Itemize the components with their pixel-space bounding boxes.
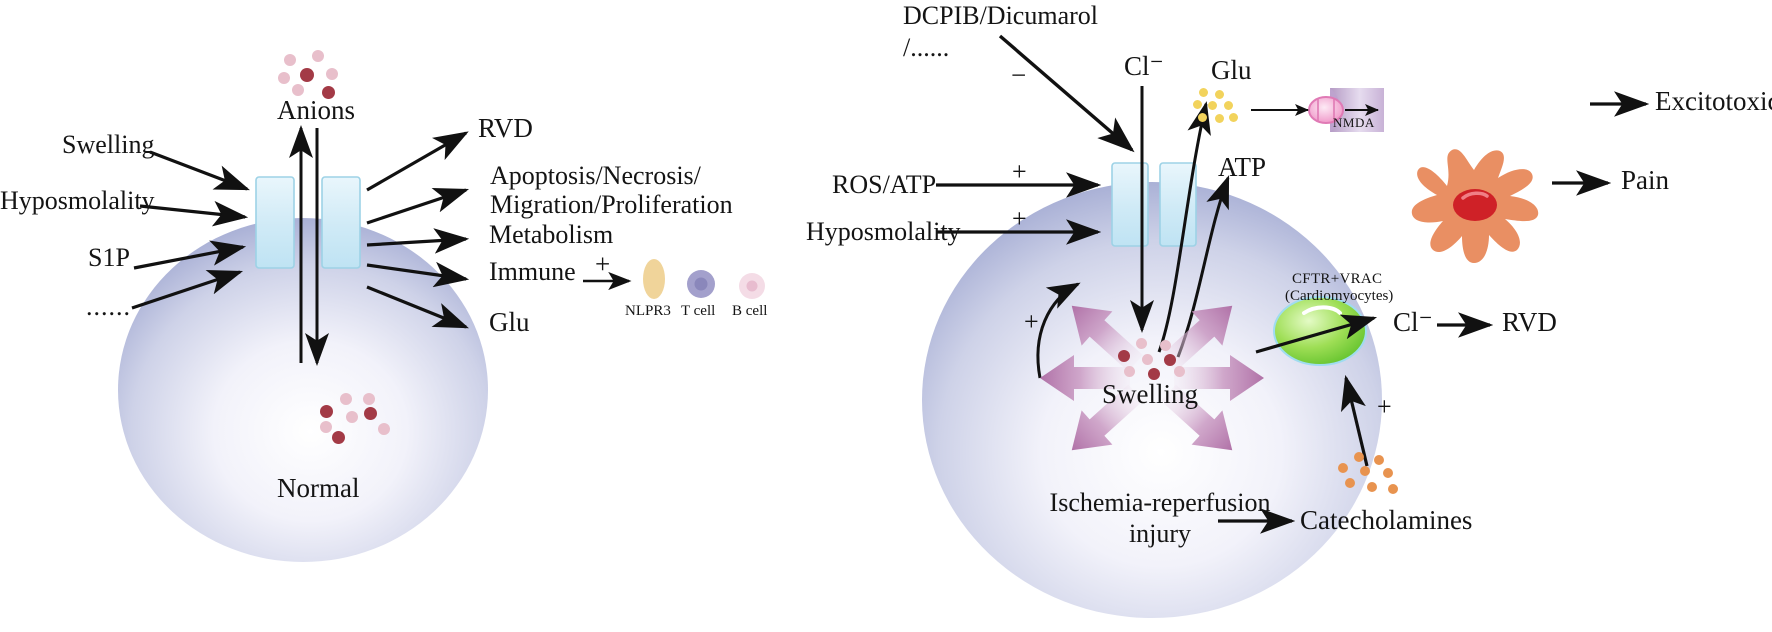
label-immune-plus-sign: + bbox=[595, 249, 610, 280]
arrow-swelling bbox=[150, 152, 247, 189]
label-chloride-influx: Cl⁻ bbox=[1124, 51, 1164, 82]
anions-extracellular-cluster bbox=[278, 50, 348, 96]
catecholamine-dot-cluster bbox=[1336, 452, 1398, 496]
label-t-cell: T cell bbox=[681, 303, 715, 320]
left-cell-body bbox=[118, 218, 488, 562]
nlpr3-shape bbox=[643, 259, 665, 299]
label-apoptosis-output: Apoptosis/Necrosis/ Migration/Proliferat… bbox=[490, 161, 720, 219]
label-pain: Pain bbox=[1621, 165, 1669, 196]
label-catecholamines: Catecholamines bbox=[1300, 505, 1472, 536]
label-metabolism-output: Metabolism bbox=[489, 220, 613, 250]
label-cardiomyocytes: (Cardiomyocytes) bbox=[1285, 288, 1393, 305]
label-b-cell: B cell bbox=[732, 303, 767, 320]
label-excitotoxicity: Excitotoxicity bbox=[1655, 86, 1772, 117]
arrow-rvd bbox=[367, 133, 466, 190]
label-anions: Anions bbox=[277, 95, 355, 126]
label-cftr-rvd: RVD bbox=[1502, 307, 1557, 338]
neuron-shape bbox=[1412, 149, 1538, 263]
label-inhibitor-minus-sign: − bbox=[1011, 60, 1026, 91]
swelling-anion-cluster bbox=[1114, 338, 1186, 380]
label-ros-atp-plus-sign: + bbox=[1012, 157, 1027, 187]
label-etc-input: ...... bbox=[86, 292, 131, 322]
label-swelling-center: Swelling bbox=[1102, 379, 1198, 410]
glu-dot-cluster bbox=[1193, 88, 1239, 128]
label-glu-release: Glu bbox=[1211, 55, 1252, 86]
label-nmda-receptor: NMDA bbox=[1333, 115, 1375, 131]
anions-intracellular-cluster bbox=[320, 393, 394, 441]
immune-target-cells bbox=[643, 259, 765, 299]
label-swelling-input: Swelling bbox=[62, 130, 154, 160]
cftr-vrac-shape bbox=[1274, 297, 1366, 365]
label-nlpr3: NLPR3 bbox=[625, 303, 671, 320]
label-atp-release: ATP bbox=[1218, 152, 1266, 183]
label-inhibitors: DCPIB/Dicumarol /...... bbox=[903, 0, 1133, 63]
label-ischemia-reperfusion: Ischemia-reperfusion injury bbox=[1045, 487, 1275, 549]
label-glu-output: Glu bbox=[489, 307, 530, 338]
figure-canvas: Anions Swelling Hyposmolality S1P ......… bbox=[0, 0, 1772, 632]
label-immune-output: Immune bbox=[489, 257, 576, 287]
arrow-hyposmolality bbox=[140, 206, 245, 217]
label-cftr-vrac: CFTR+VRAC bbox=[1292, 271, 1382, 288]
label-cftr-chloride: Cl⁻ bbox=[1393, 307, 1433, 338]
label-ros-atp-input: ROS/ATP bbox=[832, 170, 936, 200]
label-rvd-output: RVD bbox=[478, 113, 533, 144]
label-catecholamines-plus-sign: + bbox=[1377, 392, 1392, 422]
label-normal-cell: Normal bbox=[277, 473, 359, 504]
label-s1p-input: S1P bbox=[88, 243, 130, 273]
label-hyposmolality-input: Hyposmolality bbox=[0, 186, 155, 216]
label-hyposmolality-input-right: Hyposmolality bbox=[806, 217, 961, 247]
label-hyposmolality-plus-sign: + bbox=[1012, 204, 1027, 234]
arrow-apoptosis bbox=[367, 190, 466, 223]
label-internal-plus-sign: + bbox=[1024, 307, 1039, 337]
